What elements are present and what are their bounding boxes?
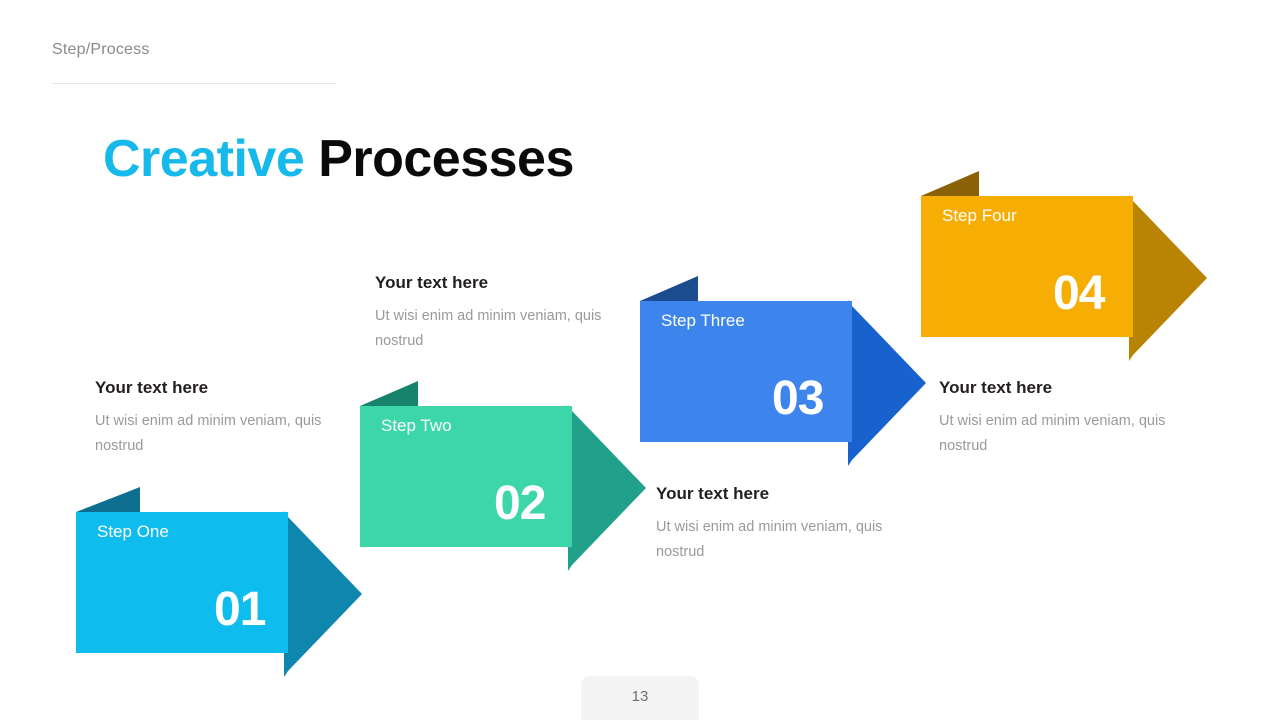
caption-block-four: Your text here Ut wisi enim ad minim ven… [939, 378, 1171, 459]
step-two-label: Step Two [381, 416, 452, 436]
step-three-number: 03 [772, 371, 823, 426]
caption-two-title: Your text here [375, 273, 607, 293]
step-one-arrowhead [284, 511, 362, 677]
page-title: Creative Processes [103, 131, 574, 188]
caption-block-three: Your text here Ut wisi enim ad minim ven… [656, 484, 888, 565]
step-arrow-four[interactable]: Step Four 04 [921, 171, 1205, 337]
header-divider [52, 83, 336, 84]
page-title-accent: Creative [103, 130, 304, 188]
step-one-number: 01 [214, 582, 265, 637]
step-arrow-one[interactable]: Step One 01 [76, 487, 360, 653]
step-one-fold-tab [76, 487, 140, 512]
step-three-arrowhead [848, 300, 926, 466]
step-two-arrowhead [568, 405, 646, 571]
step-arrow-two[interactable]: Step Two 02 [360, 381, 644, 547]
step-three-label: Step Three [661, 311, 745, 331]
caption-block-one: Your text here Ut wisi enim ad minim ven… [95, 378, 327, 459]
slide-canvas: Step/Process Creative Processes Step One… [0, 0, 1280, 720]
step-one-label: Step One [97, 522, 169, 542]
step-four-fold-tab [921, 171, 979, 196]
caption-four-body: Ut wisi enim ad minim veniam, quis nostr… [939, 409, 1171, 459]
caption-four-title: Your text here [939, 378, 1171, 398]
caption-block-two: Your text here Ut wisi enim ad minim ven… [375, 273, 607, 354]
caption-one-body: Ut wisi enim ad minim veniam, quis nostr… [95, 409, 327, 459]
page-number: 13 [581, 688, 699, 705]
caption-two-body: Ut wisi enim ad minim veniam, quis nostr… [375, 304, 607, 354]
step-three-fold-tab [640, 276, 698, 301]
step-arrow-three[interactable]: Step Three 03 [640, 276, 924, 442]
page-title-space [304, 130, 318, 188]
slide-kicker-label: Step/Process [52, 41, 150, 59]
caption-three-title: Your text here [656, 484, 888, 504]
caption-three-body: Ut wisi enim ad minim veniam, quis nostr… [656, 515, 888, 565]
step-two-fold-tab [360, 381, 418, 406]
step-two-number: 02 [494, 476, 545, 531]
caption-one-title: Your text here [95, 378, 327, 398]
page-title-rest: Processes [318, 130, 574, 188]
step-four-label: Step Four [942, 206, 1017, 226]
step-four-number: 04 [1053, 266, 1104, 321]
step-four-arrowhead [1129, 195, 1207, 361]
